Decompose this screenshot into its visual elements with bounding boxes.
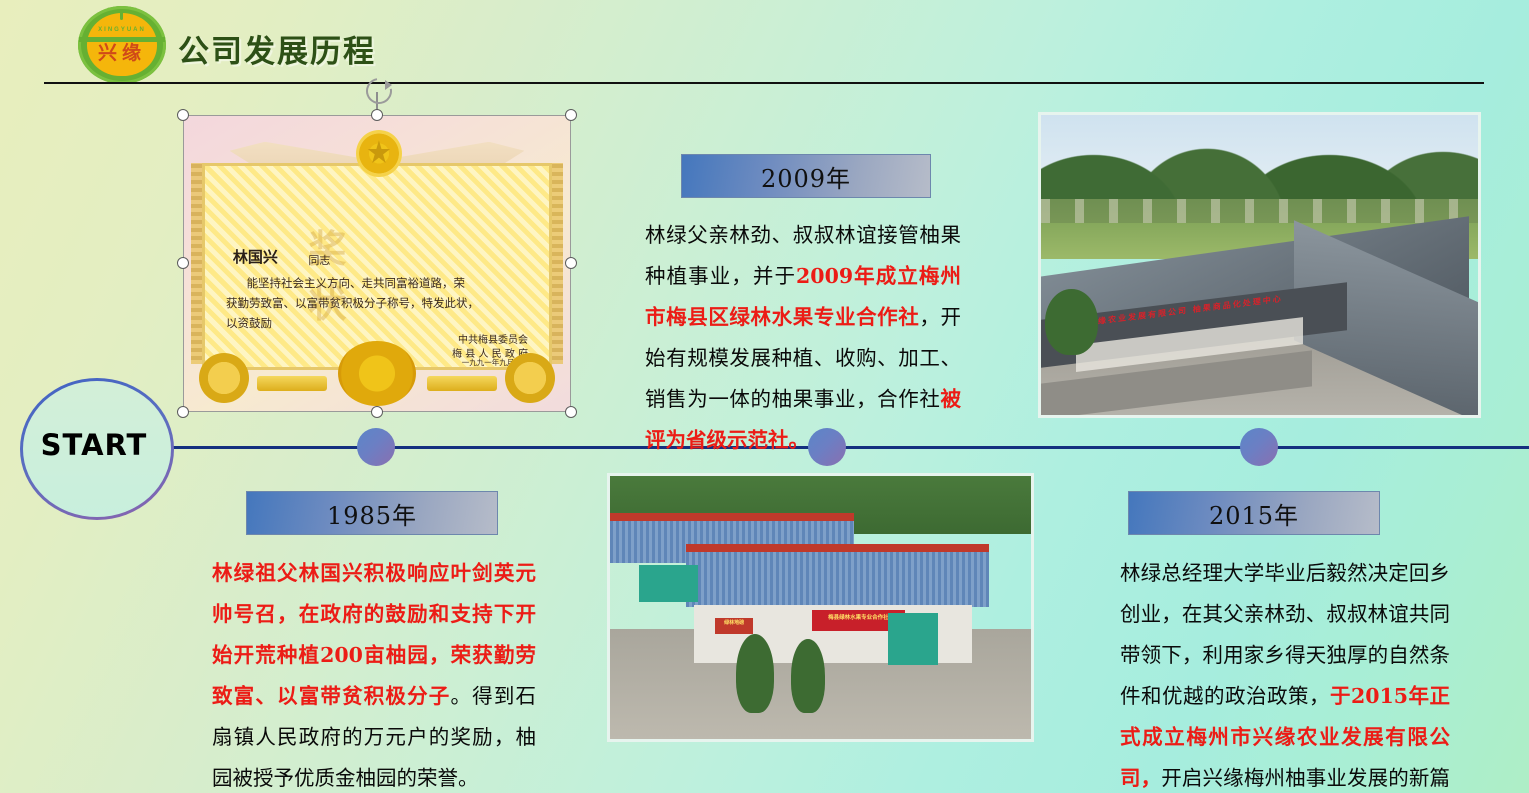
certificate-peony-ornament [338, 341, 416, 406]
factory-aerial-photo[interactable]: 梅州市兴缘农业发展有限公司 柚果商品化处理中心 [1038, 112, 1481, 418]
photo-main-roof [686, 547, 989, 607]
resize-handle-bottom-left[interactable] [177, 406, 189, 418]
certificate-body-line-3: 以资鼓励 [226, 315, 272, 331]
resize-handle-bottom-right[interactable] [565, 406, 577, 418]
certificate-recipient: 林国兴 [233, 246, 278, 267]
photo-tree-1 [736, 634, 774, 713]
photo-green-door [888, 613, 939, 666]
milestone-paragraph-2015: 林绿总经理大学毕业后毅然决定回乡创业，在其父亲林劲、叔叔林谊共同带领下，利用家乡… [1120, 553, 1450, 793]
year-label-2015-text: 2015年 [1209, 496, 1299, 531]
resize-handle-top-center[interactable] [371, 109, 383, 121]
year-label-2015: 2015年 [1128, 491, 1380, 535]
certificate-body-line-2: 获勤劳致富、以富带贫积极分子称号，特发此状， [226, 295, 479, 311]
photo-weighbridge-sign-text: 绿林地磅 [715, 619, 753, 626]
logo-brand-en: XINGYUAN [87, 27, 157, 33]
year-label-2009-text: 2009年 [761, 159, 851, 194]
resize-handle-top-right[interactable] [565, 109, 577, 121]
start-label: START [20, 428, 168, 462]
milestone-paragraph-1985: 林绿祖父林国兴积极响应叶剑英元帅号召，在政府的鼓励和支持下开始开荒种植200亩柚… [212, 553, 536, 793]
logo-stem-icon [120, 9, 123, 20]
cooperative-photo[interactable]: 梅县绿林水果专业合作社 绿林地磅 [607, 473, 1034, 742]
resize-handle-bottom-center[interactable] [371, 406, 383, 418]
certificate-issuer-1: 中共梅县委员会 [458, 331, 528, 346]
resize-handle-top-left[interactable] [177, 109, 189, 121]
certificate-bar-right [427, 376, 497, 391]
certificate-recipient-suffix: 同志 [308, 252, 330, 268]
timeline-dot-2015[interactable] [1240, 428, 1278, 466]
resize-handle-middle-right[interactable] [565, 257, 577, 269]
timeline-dot-1985[interactable] [357, 428, 395, 466]
certificate-medal-left [199, 353, 249, 403]
milestone-paragraph-2009: 林绿父亲林劲、叔叔林谊接管柚果种植事业，并于2009年成立梅州市梅县区绿林水果专… [645, 215, 961, 461]
certificate-bar-left [257, 376, 327, 391]
certificate-image[interactable]: 奖 状 林国兴 同志 能坚持社会主义方向、走共同富裕道路，荣 获勤劳致富、以富带… [183, 115, 571, 412]
rotate-handle-icon[interactable] [361, 73, 397, 109]
year-label-2009: 2009年 [681, 154, 931, 198]
header-divider [44, 82, 1484, 84]
company-logo: XINGYUAN 兴缘 [70, 4, 175, 84]
year-label-1985-text: 1985年 [327, 496, 417, 531]
photo-main-ridge [686, 544, 989, 552]
page-title: 公司发展历程 [178, 26, 376, 71]
resize-handle-middle-left[interactable] [177, 257, 189, 269]
certificate-body-line-1: 能坚持社会主义方向、走共同富裕道路，荣 [247, 275, 466, 291]
certificate-panel: 奖 状 林国兴 同志 能坚持社会主义方向、走共同富裕道路，荣 获勤劳致富、以富带… [202, 163, 551, 371]
rotate-handle-arrow-icon [385, 80, 392, 90]
photo-rear-ridge [610, 513, 854, 521]
photo-tree [1045, 289, 1097, 355]
logo-brand-cn: 兴缘 [85, 42, 159, 64]
year-label-1985: 1985年 [246, 491, 498, 535]
photo-tree-2 [791, 639, 825, 713]
certificate-watermark: 奖 状 [308, 218, 459, 250]
paragraph-segment-2: 开启兴缘梅州柚事业发展的新篇章。 [1120, 766, 1450, 793]
slide-canvas: XINGYUAN 兴缘 公司发展历程 START 奖 状 林国兴 同志 能坚持社… [0, 0, 1529, 793]
photo-rear-green-door [639, 565, 698, 602]
